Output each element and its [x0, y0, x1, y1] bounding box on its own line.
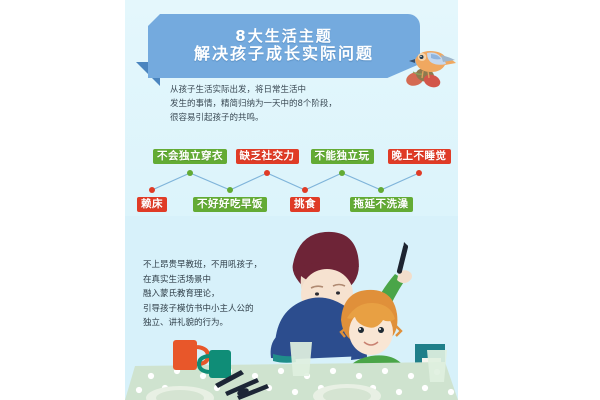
chart-label-tag: 赖床	[137, 197, 167, 212]
chart-label-tag: 不会独立穿衣	[153, 149, 227, 164]
chart-dot	[227, 187, 233, 193]
illustration-section: 不上昂贵早教班，不用吼孩子， 在真实生活场景中 融入蒙氏教育理论， 引导孩子模仿…	[125, 216, 458, 400]
chart-dot	[416, 170, 422, 176]
hero-section: 8大生活主题 解决孩子成长实际问题	[125, 0, 458, 145]
bird-icon	[401, 38, 457, 88]
intro-line-3: 很容易引起孩子的共鸣。	[170, 112, 420, 126]
chart-dot	[302, 187, 308, 193]
page-title-line1: 8大生活主题	[235, 29, 332, 45]
chart-label-tag: 不能独立玩	[311, 149, 374, 164]
glass-icon	[427, 350, 447, 382]
chart-label-tag: 不好好吃早饭	[193, 197, 267, 212]
body-line-1: 不上昂贵早教班，不用吼孩子，	[143, 258, 333, 273]
glass-icon	[290, 342, 312, 376]
chart-dot	[187, 170, 193, 176]
chart-label-tag: 挑食	[290, 197, 320, 212]
page-title-line2: 解决孩子成长实际问题	[194, 46, 374, 63]
chart-label-tag: 拖延不洗澡	[350, 197, 413, 212]
illustration-body-text: 不上昂贵早教班，不用吼孩子， 在真实生活场景中 融入蒙氏教育理论， 引导孩子模仿…	[143, 258, 333, 331]
body-line-4: 引导孩子模仿书中小主人公的	[143, 302, 333, 317]
title-banner: 8大生活主题 解决孩子成长实际问题	[148, 14, 420, 78]
poster-root: 8大生活主题 解决孩子成长实际问题	[0, 0, 600, 400]
chart-label-tag: 晚上不睡觉	[388, 149, 451, 164]
chart-dot	[339, 170, 345, 176]
life-stages-chart: 不会独立穿衣缺乏社交力不能独立玩晚上不睡觉 赖床不好好吃早饭挑食拖延不洗澡	[125, 143, 458, 217]
intro-line-1: 从孩子生活实际出发，将日常生活中	[170, 84, 420, 98]
intro-line-2: 发生的事情，精简归纳为一天中的8个阶段，	[170, 98, 420, 112]
chart-dot	[149, 187, 155, 193]
body-line-2: 在真实生活场景中	[143, 273, 333, 288]
chart-label-tag: 缺乏社交力	[236, 149, 299, 164]
content-column: 8大生活主题 解决孩子成长实际问题	[125, 0, 458, 400]
intro-paragraph: 从孩子生活实际出发，将日常生活中 发生的事情，精简归纳为一天中的8个阶段， 很容…	[170, 84, 420, 125]
chart-dot	[378, 187, 384, 193]
body-line-3: 融入蒙氏教育理论，	[143, 287, 333, 302]
pen-icon	[396, 242, 408, 274]
chart-dot	[264, 170, 270, 176]
body-line-5: 独立、讲礼貌的行为。	[143, 316, 333, 331]
